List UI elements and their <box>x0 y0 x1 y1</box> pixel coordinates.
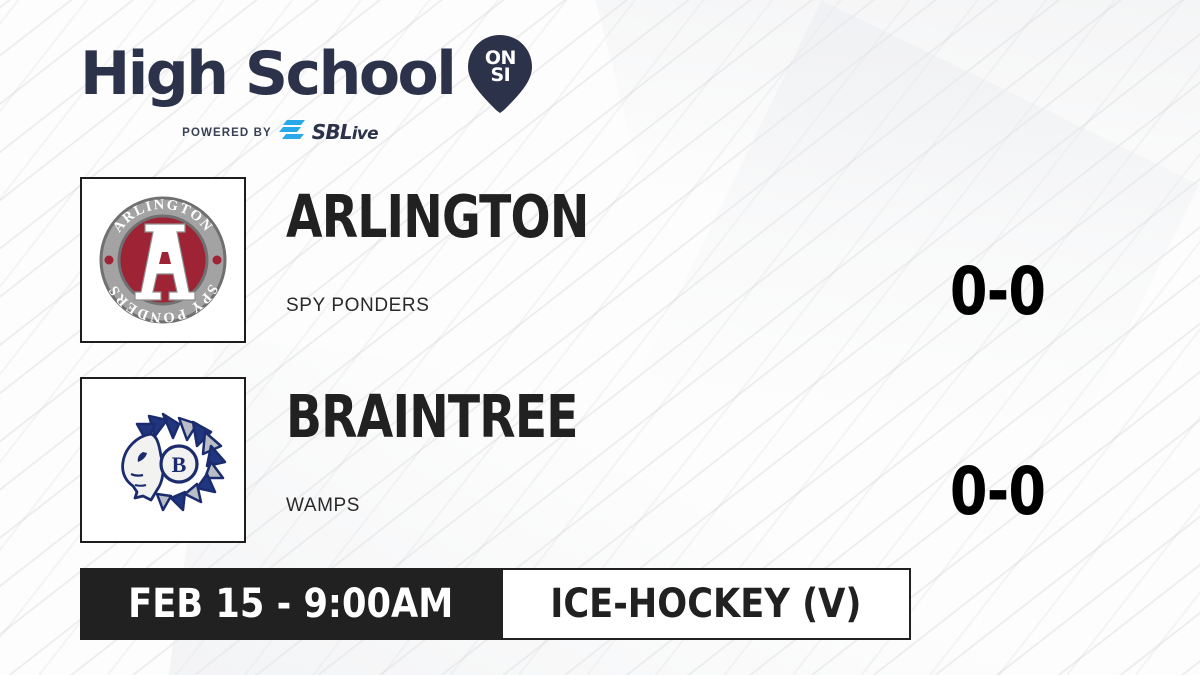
map-pin-label: ON SI <box>466 50 534 84</box>
arlington-text-block: ARLINGTON SPY PONDERS <box>286 177 664 317</box>
braintree-wamps-headdress-icon: B <box>80 377 246 543</box>
partner-wordmark-suffix: ive <box>352 124 378 144</box>
team-name-braintree: BRAINTREE <box>286 387 578 447</box>
brand-title: High School <box>80 44 454 104</box>
partner-wordmark: SBLive <box>312 122 378 143</box>
game-sport-label: ICE-HOCKEY (V) <box>551 584 862 624</box>
game-info-bar: FEB 15 - 9:00AM ICE-HOCKEY (V) <box>80 568 911 640</box>
team-mascot-braintree: WAMPS <box>286 495 651 517</box>
arlington-spy-ponders-seal-icon: ARLINGTON SPY PONDERS <box>80 177 246 343</box>
powered-by-row: POWERED BY SBLive <box>80 120 480 145</box>
partner-wordmark-main: SBL <box>312 120 352 144</box>
game-datetime-label: FEB 15 - 9:00AM <box>128 584 453 624</box>
brand-header: High School ON SI POWERED BY <box>80 34 510 145</box>
map-pin-icon: ON SI <box>466 34 534 114</box>
team-record-arlington: 0-0 <box>950 259 1045 325</box>
badge-line-si: SI <box>466 67 534 84</box>
braintree-text-block: BRAINTREE WAMPS <box>286 377 651 517</box>
powered-by-label: POWERED BY <box>182 127 272 139</box>
team-record-braintree: 0-0 <box>950 459 1045 525</box>
matchup-scorecard: High School ON SI POWERED BY <box>0 0 1200 675</box>
game-sport-block: ICE-HOCKEY (V) <box>501 568 911 640</box>
game-datetime-block: FEB 15 - 9:00AM <box>80 568 501 640</box>
team-mascot-arlington: SPY PONDERS <box>286 295 664 317</box>
sblive-s-icon <box>279 120 305 145</box>
team-name-arlington: ARLINGTON <box>286 187 589 247</box>
svg-text:B: B <box>172 452 187 477</box>
brand-title-row: High School ON SI <box>80 34 510 114</box>
